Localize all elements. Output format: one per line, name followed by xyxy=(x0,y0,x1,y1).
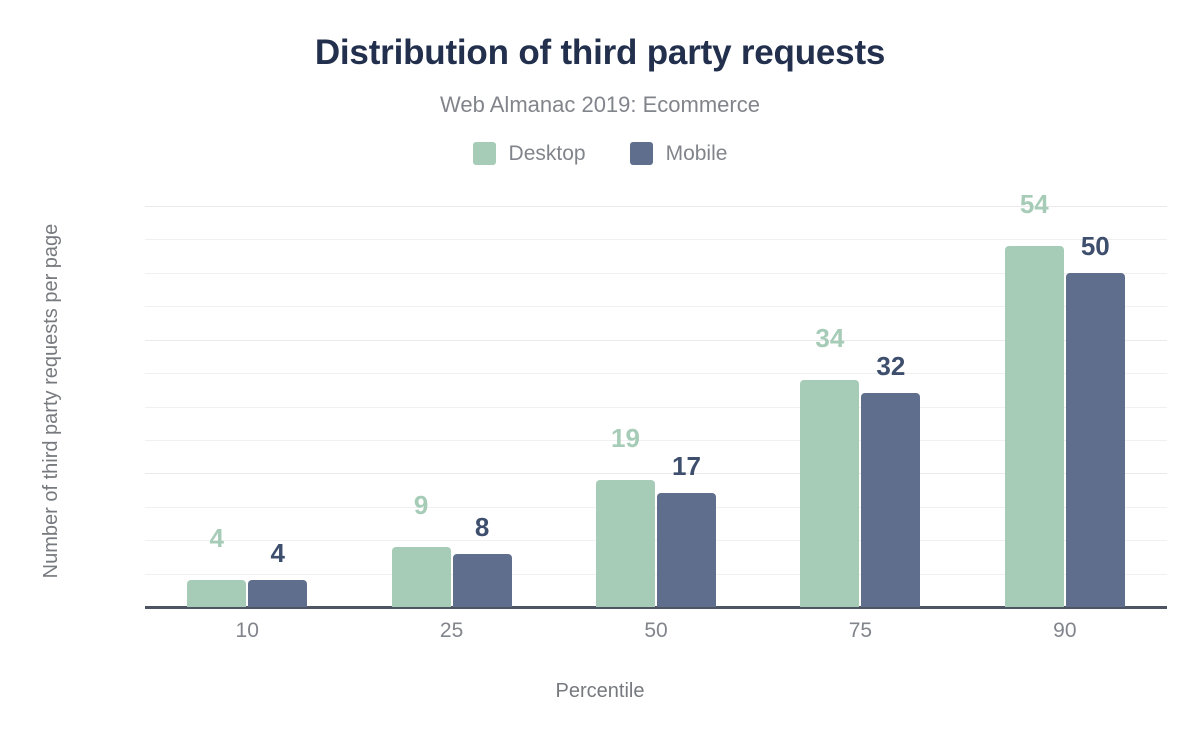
x-axis-title: Percentile xyxy=(0,678,1200,704)
bar-rect[interactable] xyxy=(1005,246,1064,607)
bar-group: 98 xyxy=(349,196,553,607)
bar-value-label: 4 xyxy=(248,538,307,568)
legend-item-desktop[interactable]: Desktop xyxy=(473,142,586,165)
chart-title: Distribution of third party requests xyxy=(0,31,1200,75)
bar-rect[interactable] xyxy=(453,554,512,607)
bar-mobile-50[interactable]: 17 xyxy=(657,196,716,607)
bar-value-label: 32 xyxy=(861,351,920,381)
bar-group: 1917 xyxy=(554,196,758,607)
x-tick-label: 75 xyxy=(758,618,962,648)
bar-desktop-25[interactable]: 9 xyxy=(392,196,451,607)
legend-label-desktop: Desktop xyxy=(509,142,586,165)
bar-value-label: 50 xyxy=(1066,231,1125,261)
y-axis-title: Number of third party requests per page xyxy=(39,91,63,711)
bar-desktop-75[interactable]: 34 xyxy=(800,196,859,607)
bar-mobile-25[interactable]: 8 xyxy=(453,196,512,607)
bar-rect[interactable] xyxy=(392,547,451,607)
x-tick-label: 10 xyxy=(145,618,349,648)
bar-mobile-90[interactable]: 50 xyxy=(1066,196,1125,607)
bar-desktop-10[interactable]: 4 xyxy=(187,196,246,607)
bar-value-label: 19 xyxy=(596,423,655,453)
chart-figure: Distribution of third party requests Web… xyxy=(0,0,1200,742)
bar-value-label: 54 xyxy=(1005,189,1064,219)
bar-rect[interactable] xyxy=(187,580,246,607)
x-tick-label: 25 xyxy=(349,618,553,648)
x-tick-label: 90 xyxy=(963,618,1167,648)
bar-mobile-10[interactable]: 4 xyxy=(248,196,307,607)
x-tick-label: 50 xyxy=(554,618,758,648)
y-axis-ticks: 0204060 xyxy=(0,0,131,742)
legend-item-mobile[interactable]: Mobile xyxy=(630,142,728,165)
legend-label-mobile: Mobile xyxy=(666,142,728,165)
bar-rect[interactable] xyxy=(248,580,307,607)
bar-group: 3432 xyxy=(758,196,962,607)
bar-value-label: 17 xyxy=(657,451,716,481)
bar-desktop-50[interactable]: 19 xyxy=(596,196,655,607)
bar-mobile-75[interactable]: 32 xyxy=(861,196,920,607)
chart-legend: Desktop Mobile xyxy=(0,142,1200,165)
bar-value-label: 8 xyxy=(453,512,512,542)
bar-group: 5450 xyxy=(963,196,1167,607)
bar-value-label: 4 xyxy=(187,523,246,553)
bar-rect[interactable] xyxy=(657,493,716,607)
bar-rect[interactable] xyxy=(861,393,920,607)
bar-value-label: 9 xyxy=(392,490,451,520)
bar-group: 44 xyxy=(145,196,349,607)
bar-groups: 4498191734325450 xyxy=(145,196,1167,607)
legend-swatch-desktop xyxy=(473,142,496,165)
bar-value-label: 34 xyxy=(800,323,859,353)
bar-desktop-90[interactable]: 54 xyxy=(1005,196,1064,607)
x-axis-ticks: 1025507590 xyxy=(145,618,1167,648)
bar-rect[interactable] xyxy=(1066,273,1125,607)
legend-swatch-mobile xyxy=(630,142,653,165)
chart-subtitle: Web Almanac 2019: Ecommerce xyxy=(0,90,1200,120)
bar-rect[interactable] xyxy=(800,380,859,607)
bar-rect[interactable] xyxy=(596,480,655,607)
